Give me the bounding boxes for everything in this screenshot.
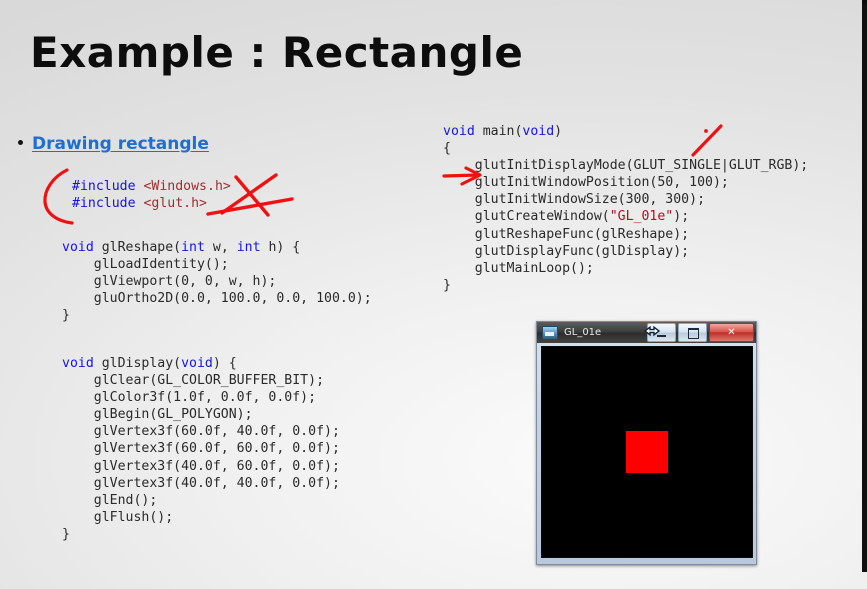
gl-window-title: GL_01e: [564, 327, 601, 338]
screen-bezel-right: [862, 0, 867, 572]
close-icon: ✕: [710, 328, 753, 338]
gl-canvas: [541, 346, 753, 558]
include-directive-2: #include: [72, 196, 136, 211]
keyword-int-h: int: [237, 240, 261, 255]
bullet-item-label: Drawing rectangle: [32, 134, 209, 154]
bullet-dot-icon: [18, 140, 23, 145]
red-cross-out-stroke-1: [236, 177, 268, 215]
minimize-icon: [657, 335, 666, 337]
slide-canvas: Example : Rectangle Drawing rectangle #i…: [0, 0, 867, 589]
page-title: Example : Rectangle: [30, 28, 523, 77]
keyword-int-w: int: [181, 240, 205, 255]
keyword-void-main-param: void: [522, 124, 554, 139]
keyword-void: void: [62, 240, 94, 255]
keyword-void-ret: void: [62, 356, 94, 371]
keyword-void-main-ret: void: [443, 124, 475, 139]
include-header-glut: <glut.h>: [143, 196, 207, 211]
code-block-includes: #include <Windows.h> #include <glut.h>: [72, 178, 231, 212]
include-header-windows: <Windows.h>: [143, 179, 230, 194]
maximize-button[interactable]: [678, 323, 707, 342]
close-button[interactable]: ✕: [709, 323, 754, 342]
gl-output-window: GL_01e ✕: [536, 321, 757, 565]
minimize-button[interactable]: [647, 323, 676, 342]
keyword-void-param: void: [181, 356, 213, 371]
gl-window-titlebar[interactable]: GL_01e ✕: [537, 322, 756, 343]
window-caption-buttons: ✕: [647, 323, 754, 342]
code-block-main: void main(void) { glutInitDisplayMode(GL…: [443, 123, 808, 294]
string-window-name: "GL_01e": [610, 209, 674, 224]
code-block-gldisplay: void glDisplay(void) { glClear(GL_COLOR_…: [62, 355, 340, 543]
include-directive-1: #include: [72, 179, 136, 194]
maximize-icon: [688, 328, 699, 339]
bullet-item-drawing-rectangle: Drawing rectangle: [18, 134, 209, 154]
rendered-red-rectangle: [626, 431, 668, 473]
red-bracket-includes: [45, 170, 72, 223]
application-icon: [542, 326, 558, 340]
screen-bezel-top: [862, 0, 867, 4]
code-block-glreshape: void glReshape(int w, int h) { glLoadIde…: [62, 239, 372, 324]
